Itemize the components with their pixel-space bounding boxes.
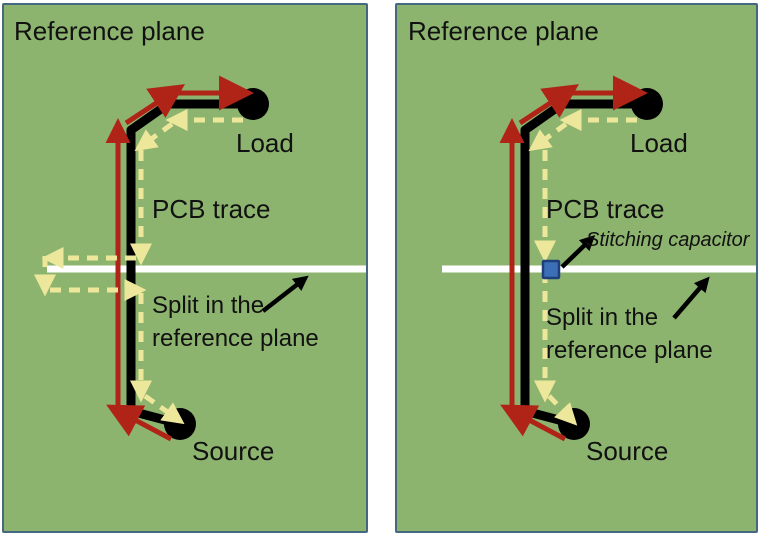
panel-left: Reference plane Load PCB trace Split in … [3,4,367,532]
split-label-line2-left: reference plane [152,325,319,352]
split-label-line1-right: Split in the [546,304,658,331]
pcb-trace-label-left: PCB trace [152,194,271,224]
pcb-trace-label-right: PCB trace [546,194,665,224]
source-label-right: Source [586,436,668,466]
load-pad-left [237,88,269,120]
diagram-svg: Reference plane Load PCB trace Split in … [0,0,761,540]
load-label-right: Load [630,128,688,158]
figure-root: Reference plane Load PCB trace Split in … [0,0,761,540]
panel-right: Reference plane Load PCB trace Stitching… [396,4,757,532]
load-pad-right [631,88,663,120]
split-label-line1-left: Split in the [152,292,264,319]
load-label-left: Load [236,128,294,158]
stitching-capacitor-label: Stitching capacitor [586,229,751,251]
source-label-left: Source [192,436,274,466]
reference-plane-label-right: Reference plane [408,16,599,46]
reference-plane-label-left: Reference plane [14,16,205,46]
split-label-line2-right: reference plane [546,337,713,364]
stitching-capacitor-icon[interactable] [543,261,559,278]
